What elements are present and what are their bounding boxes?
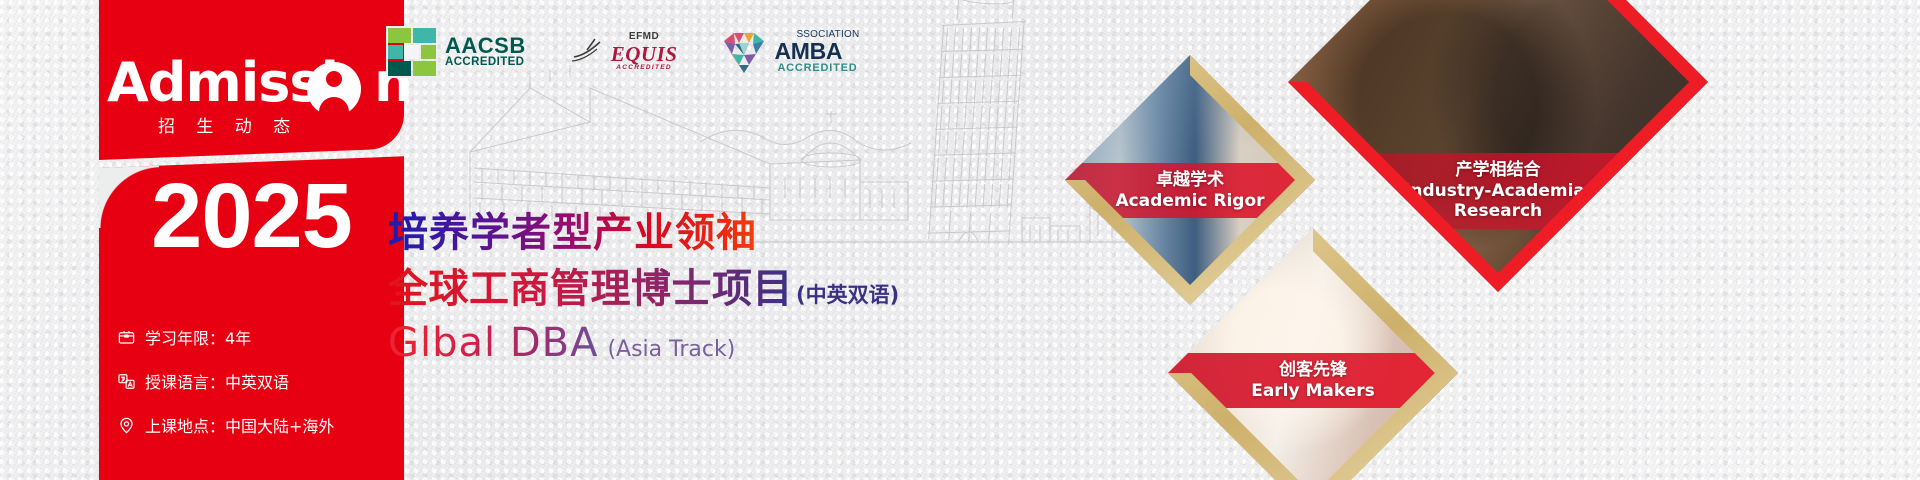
- caption-academic-rigor: 卓越学术 Academic Rigor: [1065, 163, 1315, 218]
- caption-cn-industry: 产学相结合: [1288, 160, 1708, 181]
- aacsb-accredited-label: ACCREDITED: [445, 57, 526, 69]
- info-row-language: 授课语言：中英双语: [117, 369, 407, 393]
- accreditation-amba: SSOCIATION AMBA ACCREDITED: [721, 29, 859, 75]
- caption-early-makers: 创客先锋 Early Makers: [1168, 353, 1458, 408]
- aacsb-logo-icon: [386, 26, 438, 78]
- accreditation-equis: EFMD EQUIS ACCREDITED: [570, 32, 678, 71]
- equis-name: EQUIS: [611, 43, 678, 65]
- info-label-duration: 学习年限：4年: [145, 325, 251, 349]
- headline-block: 培养学者型产业领袖 全球工商管理博士项目 (中英双语) Glbal DBA (A…: [388, 210, 1008, 366]
- feature-diamond-group: 产学相结合 Industry-Academia- Research 卓越学术 A…: [1020, 0, 1920, 480]
- feature-diamond-early-makers[interactable]: 创客先锋 Early Makers: [1168, 228, 1458, 480]
- info-row-location: 上课地点：中国大陆+海外: [117, 413, 407, 437]
- location-pin-icon: [117, 416, 136, 435]
- caption-en-industry-line2: Research: [1288, 201, 1708, 222]
- headline-tagline: 培养学者型产业领袖: [388, 210, 1008, 256]
- headline-program-line: 全球工商管理博士项目 (中英双语): [388, 266, 1008, 312]
- aacsb-name: AACSB: [445, 35, 526, 57]
- admission-banner: Admission 招 生 动 态 2025 学习年限：4年: [0, 0, 1920, 480]
- caption-en-academic: Academic Rigor: [1065, 191, 1315, 212]
- caption-industry-academia-research: 产学相结合 Industry-Academia- Research: [1288, 153, 1708, 229]
- headline-bilingual-note: (中英双语): [796, 279, 899, 309]
- program-info-list: 学习年限：4年 授课语言：中英双语 上课地点：中国大陆+海外: [117, 325, 407, 457]
- headline-english-line: Glbal DBA (Asia Track): [388, 320, 1008, 366]
- info-label-location: 上课地点：中国大陆+海外: [145, 413, 334, 437]
- info-label-language: 授课语言：中英双语: [145, 369, 289, 393]
- admission-wordmark: Admissi: [107, 51, 338, 114]
- year-label: 2025: [99, 170, 404, 262]
- accreditation-aacsb: AACSB ACCREDITED: [386, 26, 526, 78]
- language-icon: [117, 372, 136, 391]
- admission-logo: Admission 招 生 动 态: [99, 38, 409, 128]
- accreditation-logos: AACSB ACCREDITED EFMD EQUIS ACCREDITED: [386, 26, 859, 78]
- caption-en-early-makers: Early Makers: [1168, 381, 1458, 402]
- admission-logo-chinese: 招 生 动 态: [158, 112, 298, 137]
- equis-swoosh-icon: [570, 37, 604, 67]
- calendar-icon: [117, 328, 136, 347]
- headline-program-en: Glbal DBA: [388, 320, 598, 366]
- caption-cn-academic: 卓越学术: [1065, 170, 1315, 191]
- headline-asia-track: (Asia Track): [607, 337, 735, 362]
- amba-name: AMBA: [774, 40, 859, 63]
- equis-accredited-label: ACCREDITED: [616, 65, 672, 72]
- headline-program-cn: 全球工商管理博士项目: [388, 266, 793, 312]
- amba-diamond-icon: [721, 29, 767, 75]
- left-panel-content: Admission 招 生 动 态 2025 学习年限：4年: [99, 0, 404, 480]
- caption-en-industry-line1: Industry-Academia-: [1288, 181, 1708, 202]
- info-row-duration: 学习年限：4年: [117, 325, 407, 349]
- amba-accredited-label: ACCREDITED: [777, 63, 859, 74]
- person-in-circle-icon: [307, 62, 361, 116]
- caption-cn-early-makers: 创客先锋: [1168, 360, 1458, 381]
